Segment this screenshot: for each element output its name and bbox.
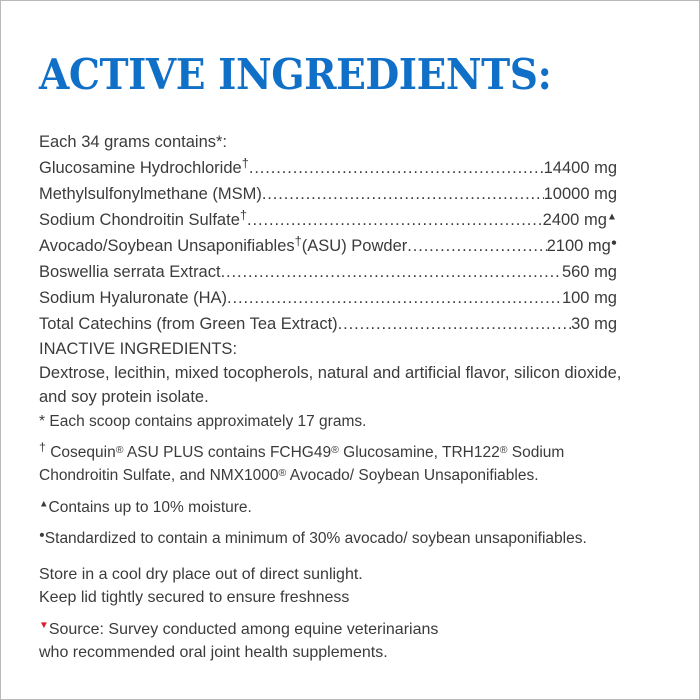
ingredient-amount: 100 mg xyxy=(562,285,617,311)
dot-leader: ........................................… xyxy=(247,207,543,233)
ingredient-name-text: Sodium Chondroitin Sulfate xyxy=(39,211,240,229)
ingredient-amount: 2400 mg▲ xyxy=(543,207,617,233)
source-line-1: ▼Source: Survey conducted among equine v… xyxy=(39,618,639,641)
ingredient-name-text: Avocado/Soybean Unsaponifiables xyxy=(39,237,295,255)
inactive-ingredients-section: INACTIVE INGREDIENTS: Dextrose, lecithin… xyxy=(39,337,627,409)
ingredient-list: Glucosamine Hydrochloride†..............… xyxy=(39,155,617,337)
dagger-icon: † xyxy=(242,156,249,171)
bullet-dot-icon: ● xyxy=(611,237,617,248)
storage-line-1: Store in a cool dry place out of direct … xyxy=(39,563,639,586)
source-note: ▼Source: Survey conducted among equine v… xyxy=(39,618,639,664)
ingredient-name: Total Catechins (from Green Tea Extract) xyxy=(39,311,338,337)
footnote-standardized: ●Standardized to contain a minimum of 30… xyxy=(39,527,639,550)
source-text-1: Source: Survey conducted among equine ve… xyxy=(49,621,439,638)
storage-instructions: Store in a cool dry place out of direct … xyxy=(39,563,639,609)
inactive-ingredients-text: Dextrose, lecithin, mixed tocopherols, n… xyxy=(39,361,627,409)
dagger-marker: † xyxy=(39,440,46,454)
footnote-scoop: * Each scoop contains approximately 17 g… xyxy=(39,410,639,433)
ingredient-amount-text: 10000 mg xyxy=(544,185,617,203)
serving-size-line: Each 34 grams contains*: xyxy=(39,129,617,155)
footnote-cosequin-part5: Avocado/ Soybean Unsaponifiables. xyxy=(286,467,538,484)
footnote-moisture-text: Contains up to 10% moisture. xyxy=(49,499,252,516)
source-line-2: who recommended oral joint health supple… xyxy=(39,641,639,664)
footnote-cosequin-part3: Glucosamine, TRH122 xyxy=(339,444,500,461)
footnote-cosequin-part2: ASU PLUS contains FCHG49 xyxy=(123,444,331,461)
ingredient-name-text: Boswellia serrata xyxy=(39,263,165,281)
ingredient-row: Sodium Chondroitin Sulfate†.............… xyxy=(39,207,617,233)
ingredient-name-text: Methylsulfonylmethane (MSM) xyxy=(39,185,262,203)
dot-leader: ........................................… xyxy=(221,259,562,285)
triangle-up-icon: ▲ xyxy=(39,499,49,510)
ingredient-row: Glucosamine Hydrochloride†..............… xyxy=(39,155,617,181)
ingredient-name-text: Total Catechins (from Green Tea Extract) xyxy=(39,315,338,333)
page-title: ACTIVE INGREDIENTS: xyxy=(39,51,551,99)
dot-leader: ........................................… xyxy=(338,311,571,337)
registered-icon: ® xyxy=(331,444,339,456)
storage-line-2: Keep lid tightly secured to ensure fresh… xyxy=(39,586,639,609)
footnote-moisture: ▲Contains up to 10% moisture. xyxy=(39,496,639,519)
ingredient-amount-text: 14400 mg xyxy=(544,159,617,177)
footnote-cosequin: † Cosequin® ASU PLUS contains FCHG49® Gl… xyxy=(39,441,625,487)
supplement-facts-panel: ACTIVE INGREDIENTS: Each 34 grams contai… xyxy=(0,0,700,700)
ingredient-amount: 560 mg xyxy=(562,259,617,285)
ingredient-amount-text: 100 mg xyxy=(562,289,617,307)
ingredient-amount-text: 30 mg xyxy=(571,315,617,333)
ingredient-name: Sodium Chondroitin Sulfate† xyxy=(39,207,247,233)
active-ingredients-section: Each 34 grams contains*: Glucosamine Hyd… xyxy=(39,129,617,337)
triangle-up-icon: ▲ xyxy=(607,211,617,222)
ingredient-amount: 2100 mg● xyxy=(547,233,617,259)
inactive-ingredients-heading: INACTIVE INGREDIENTS: xyxy=(39,337,627,361)
dagger-icon: † xyxy=(240,208,247,223)
ingredient-amount: 10000 mg xyxy=(544,181,617,207)
ingredient-row: Methylsulfonylmethane (MSM).............… xyxy=(39,181,617,207)
ingredient-name: Avocado/Soybean Unsaponifiables†(ASU) Po… xyxy=(39,233,407,259)
footnote-standardized-text: Standardized to contain a minimum of 30%… xyxy=(45,530,587,547)
dot-leader: ........................................… xyxy=(407,233,546,259)
ingredient-row: Total Catechins (from Green Tea Extract)… xyxy=(39,311,617,337)
ingredient-name-suffix: Extract xyxy=(165,263,221,281)
ingredient-amount-text: 2400 mg xyxy=(543,211,607,229)
ingredient-amount: 14400 mg xyxy=(544,155,617,181)
asterisk-marker: * xyxy=(39,413,45,430)
dagger-icon: † xyxy=(295,234,302,249)
footnote-cosequin-part1: Cosequin xyxy=(50,444,116,461)
ingredient-name: Methylsulfonylmethane (MSM) xyxy=(39,181,262,207)
dot-leader: ........................................… xyxy=(262,181,544,207)
dot-leader: ........................................… xyxy=(249,155,544,181)
ingredient-amount-text: 560 mg xyxy=(562,263,617,281)
ingredient-row: Boswellia serrata Extract...............… xyxy=(39,259,617,285)
dot-leader: ........................................… xyxy=(227,285,562,311)
ingredient-name: Sodium Hyaluronate (HA) xyxy=(39,285,227,311)
ingredient-name: Glucosamine Hydrochloride† xyxy=(39,155,249,181)
ingredient-row: Sodium Hyaluronate (HA).................… xyxy=(39,285,617,311)
triangle-down-icon: ▼ xyxy=(39,620,49,631)
ingredient-name: Boswellia serrata Extract xyxy=(39,259,221,285)
footnote-scoop-text: Each scoop contains approximately 17 gra… xyxy=(49,413,366,430)
ingredient-name-text: Sodium Hyaluronate (HA) xyxy=(39,289,227,307)
ingredient-row: Avocado/Soybean Unsaponifiables†(ASU) Po… xyxy=(39,233,617,259)
ingredient-amount-text: 2100 mg xyxy=(547,237,611,255)
ingredient-name-suffix: (ASU) Powder xyxy=(302,237,407,255)
ingredient-amount: 30 mg xyxy=(571,311,617,337)
ingredient-name-text: Glucosamine Hydrochloride xyxy=(39,159,242,177)
